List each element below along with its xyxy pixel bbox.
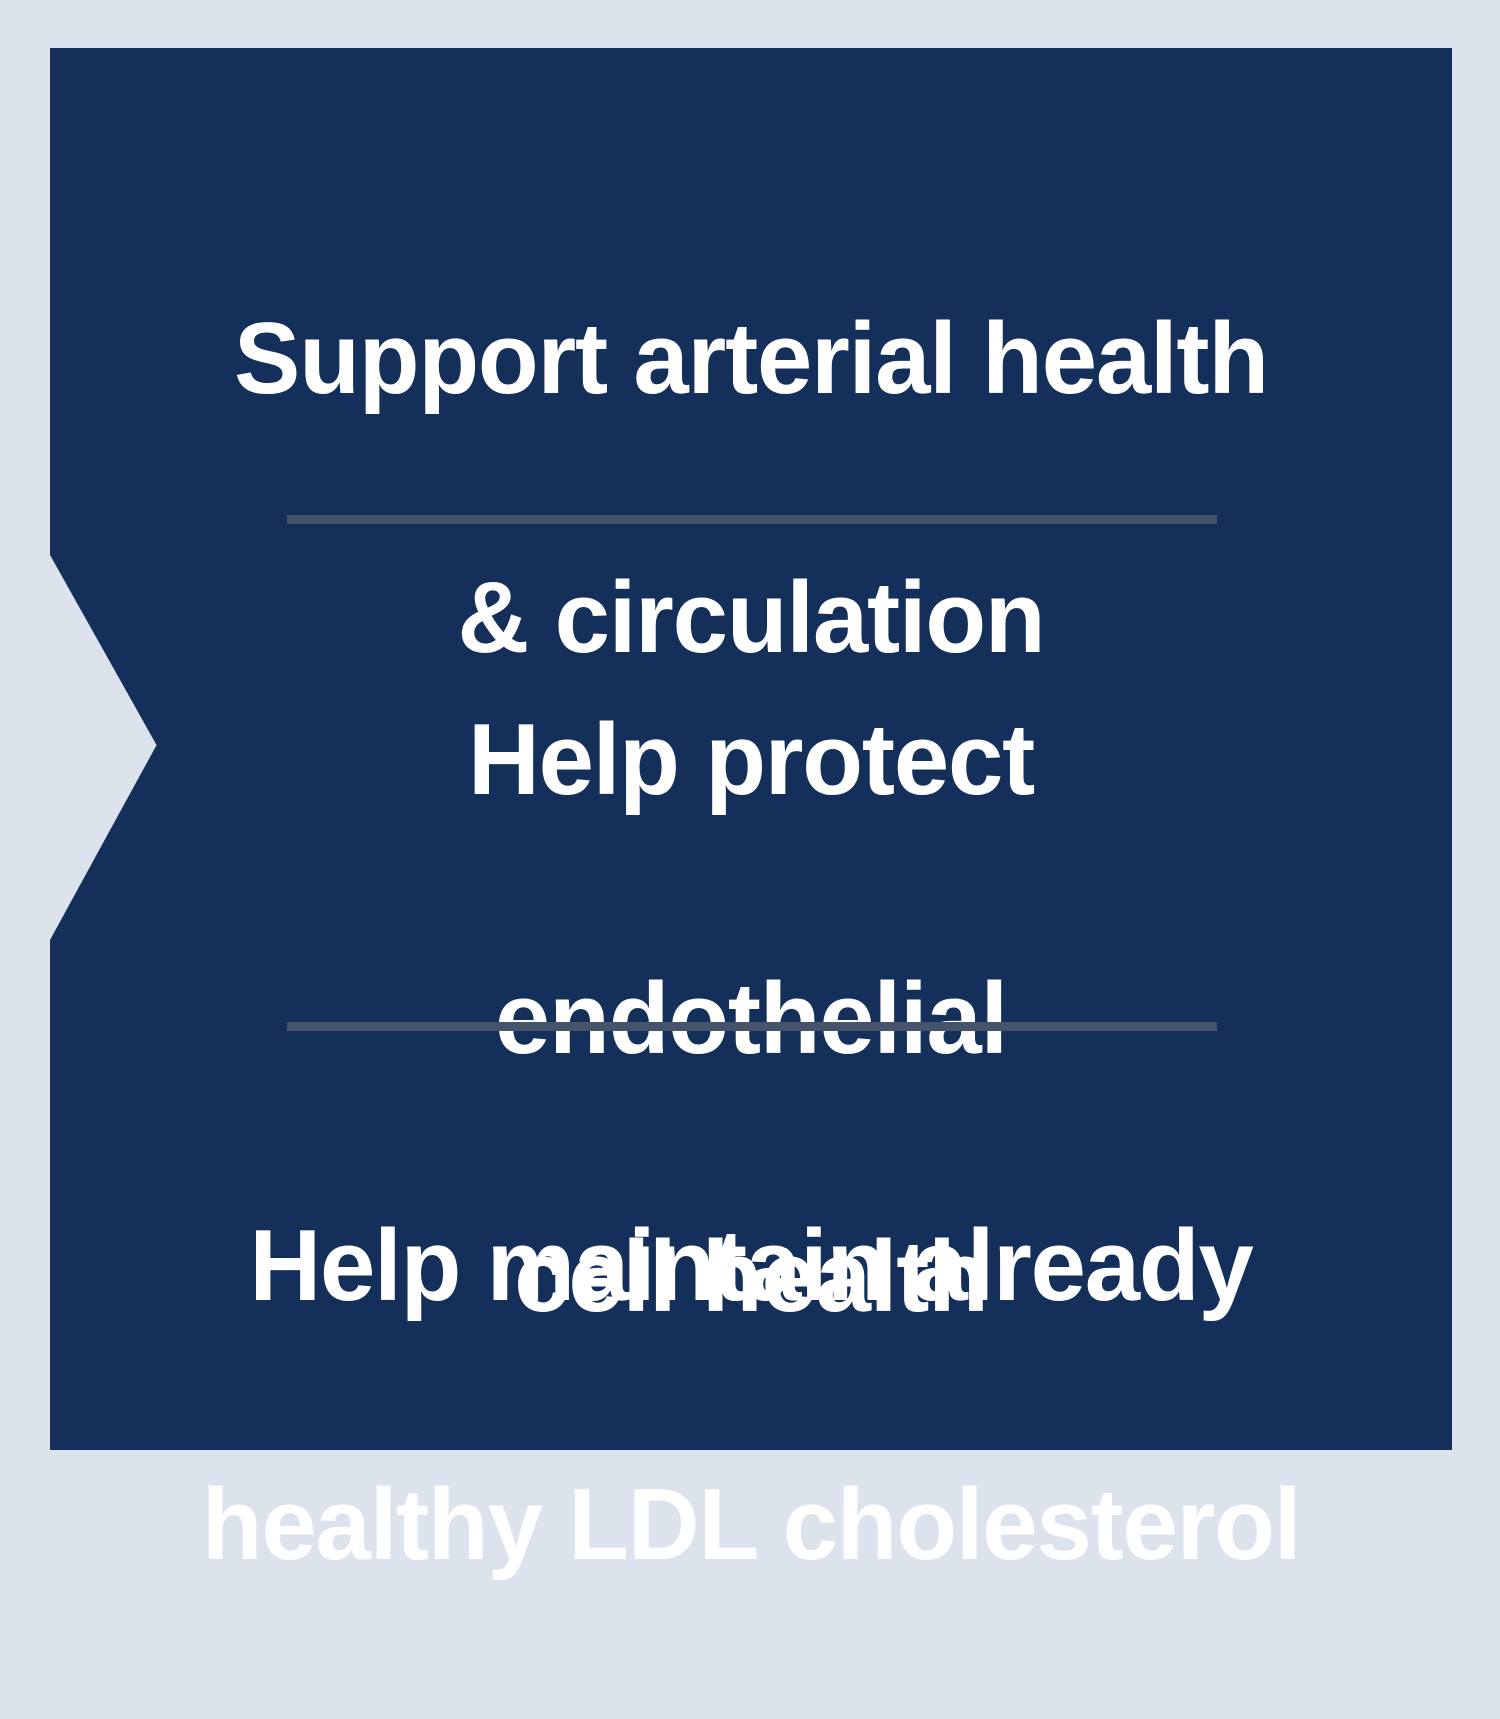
benefits-content: Support arterial health & circulation He… bbox=[50, 48, 1452, 1450]
benefit-ldl-line-1: Help maintain already bbox=[61, 1202, 1442, 1331]
benefit-arterial-health-line-1: Support arterial health bbox=[61, 295, 1442, 424]
benefit-ldl-line-2: healthy LDL cholesterol bbox=[61, 1461, 1442, 1590]
benefit-endothelial-line-2: endothelial bbox=[61, 955, 1442, 1084]
divider-rule-bottom bbox=[287, 1022, 1217, 1031]
divider-rule-top bbox=[287, 515, 1217, 524]
benefit-endothelial-line-1: Help protect bbox=[61, 696, 1442, 825]
benefit-item-ldl-cholesterol: Help maintain already healthy LDL choles… bbox=[61, 1073, 1442, 1719]
benefits-graphic: Support arterial health & circulation He… bbox=[0, 0, 1500, 1500]
